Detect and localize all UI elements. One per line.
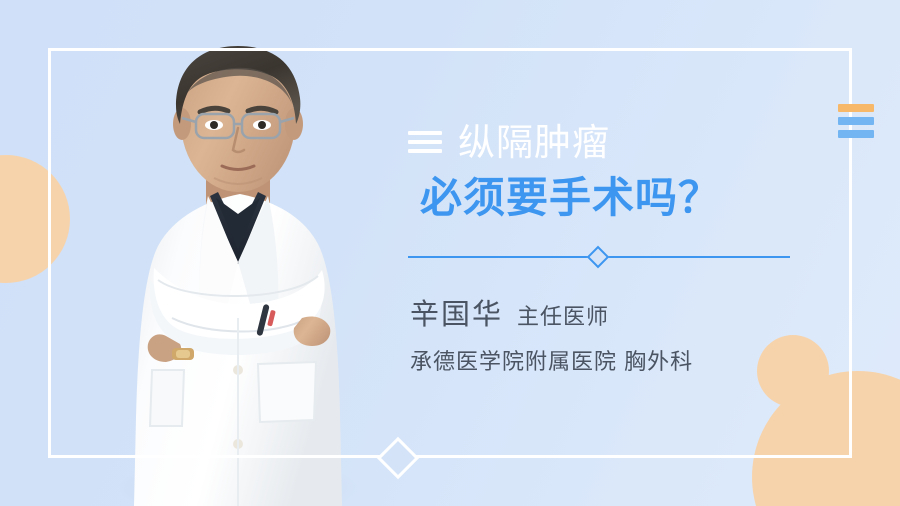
divider-diamond-icon [587,246,610,269]
title-row: 纵隔肿瘤 [408,118,828,166]
title-line-2: 必须要手术吗？ [408,174,828,221]
doctor-title: 主任医师 [517,304,609,330]
headline-block: 纵隔肿瘤 必须要手术吗？ [408,118,828,221]
section-divider [408,246,790,268]
title-line-1: 纵隔肿瘤 [458,124,610,161]
bar-orange [838,104,874,112]
doctor-portrait [88,18,388,506]
doctor-identity-row: 辛国华 主任医师 [410,298,830,333]
bar-blue-2 [838,130,874,138]
video-cover-card: 纵隔肿瘤 必须要手术吗？ 辛国华 主任医师 承德医学院附属医院 胸外科 [0,0,900,506]
doctor-affiliation: 承德医学院附属医院 胸外科 [410,349,830,375]
three-bars-mark-icon [408,131,442,153]
bar-blue-1 [838,117,874,125]
circle-left [0,155,70,283]
doctor-info-block: 辛国华 主任医师 承德医学院附属医院 胸外科 [410,298,830,375]
doctor-name: 辛国华 [410,298,503,333]
three-bars-icon [838,104,874,144]
